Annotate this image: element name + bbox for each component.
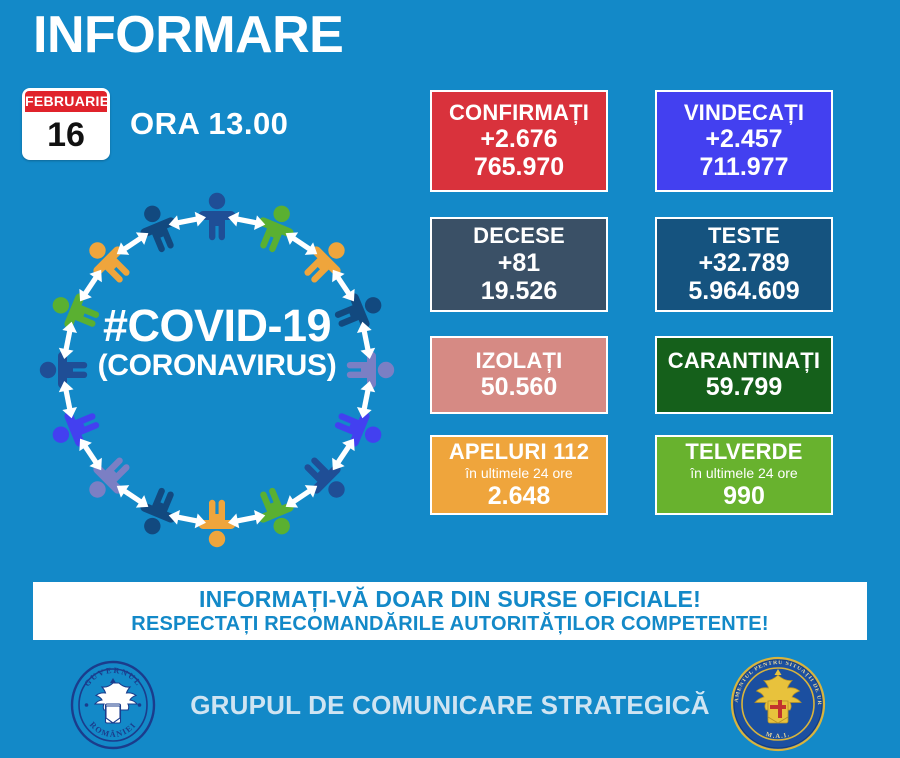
card-row-2: DECESE +81 19.526 TESTE +32.789 5.964.60… <box>430 217 836 312</box>
stat-label: TELVERDE <box>685 440 802 465</box>
card-row-1: CONFIRMAȚI +2.676 765.970 VINDECAȚI +2.4… <box>430 90 836 192</box>
stat-sublabel: în ultimele 24 ore <box>465 466 572 482</box>
page-title: INFORMARE <box>33 6 343 66</box>
notice-line-2: RESPECTAȚI RECOMANDĂRILE AUTORITĂȚILOR C… <box>131 612 768 636</box>
stat-total: 990 <box>723 482 765 510</box>
footer: GRUPUL DE COMUNICARE STRATEGICĂ GUVERNUL… <box>0 655 900 755</box>
official-sources-banner: INFORMAȚI-VĂ DOAR DIN SURSE OFICIALE! RE… <box>33 582 867 640</box>
stat-card-confirmati[interactable]: CONFIRMAȚI +2.676 765.970 <box>430 90 608 192</box>
card-row-3: IZOLAȚI 50.560 CARANTINAȚI 59.799 <box>430 336 836 414</box>
stat-delta: +2.457 <box>705 125 782 153</box>
stat-label: TESTE <box>708 224 780 249</box>
guvernul-romaniei-seal-icon: GUVERNUL ROMÂNIEI <box>70 660 156 755</box>
stat-total: 765.970 <box>474 153 564 181</box>
notice-line-1: INFORMAȚI-VĂ DOAR DIN SURSE OFICIALE! <box>199 586 701 612</box>
stat-card-izolati[interactable]: IZOLAȚI 50.560 <box>430 336 608 414</box>
stat-label: VINDECAȚI <box>684 101 804 126</box>
stat-total: 50.560 <box>481 373 557 401</box>
stat-card-carantinati[interactable]: CARANTINAȚI 59.799 <box>655 336 833 414</box>
stat-total: 2.648 <box>488 482 551 510</box>
stat-label: APELURI 112 <box>449 440 589 465</box>
stat-total: 59.799 <box>706 373 782 401</box>
stat-label: IZOLAȚI <box>476 349 563 374</box>
stat-label: DECESE <box>473 224 565 249</box>
stat-label: CONFIRMAȚI <box>449 101 589 126</box>
infographic-page: INFORMARE FEBRUARIE 16 ORA 13.00 <box>0 0 900 755</box>
date-time-row: FEBRUARIE 16 ORA 13.00 <box>22 88 288 160</box>
stat-card-telverde[interactable]: TELVERDE în ultimele 24 ore 990 <box>655 435 833 515</box>
calendar-month: FEBRUARIE <box>25 91 107 112</box>
card-row-4: APELURI 112 în ultimele 24 ore 2.648 TEL… <box>430 435 836 515</box>
stat-card-decese[interactable]: DECESE +81 19.526 <box>430 217 608 312</box>
social-distancing-circle-icon: #COVID-19 (CORONAVIRUS) <box>22 175 412 565</box>
stat-total: 711.977 <box>700 153 789 181</box>
stat-total: 5.964.609 <box>688 277 799 305</box>
stat-card-teste[interactable]: TESTE +32.789 5.964.609 <box>655 217 833 312</box>
statistics-cards: CONFIRMAȚI +2.676 765.970 VINDECAȚI +2.4… <box>430 90 836 515</box>
calendar-icon: FEBRUARIE 16 <box>22 88 110 160</box>
stat-delta: +81 <box>498 249 540 277</box>
dsu-igsu-seal-icon: DEPARTAMENTUL PENTRU SITUAȚII DE URGENȚĂ… <box>728 655 828 758</box>
stat-delta: +32.789 <box>698 249 789 277</box>
stat-label: CARANTINAȚI <box>668 349 821 374</box>
stat-sublabel: în ultimele 24 ore <box>690 466 797 482</box>
stat-delta: +2.676 <box>480 125 557 153</box>
stat-card-vindecati[interactable]: VINDECAȚI +2.457 711.977 <box>655 90 833 192</box>
report-time: ORA 13.00 <box>130 106 288 142</box>
calendar-day: 16 <box>25 112 107 157</box>
stat-total: 19.526 <box>481 277 557 305</box>
stat-card-apeluri-112[interactable]: APELURI 112 în ultimele 24 ore 2.648 <box>430 435 608 515</box>
